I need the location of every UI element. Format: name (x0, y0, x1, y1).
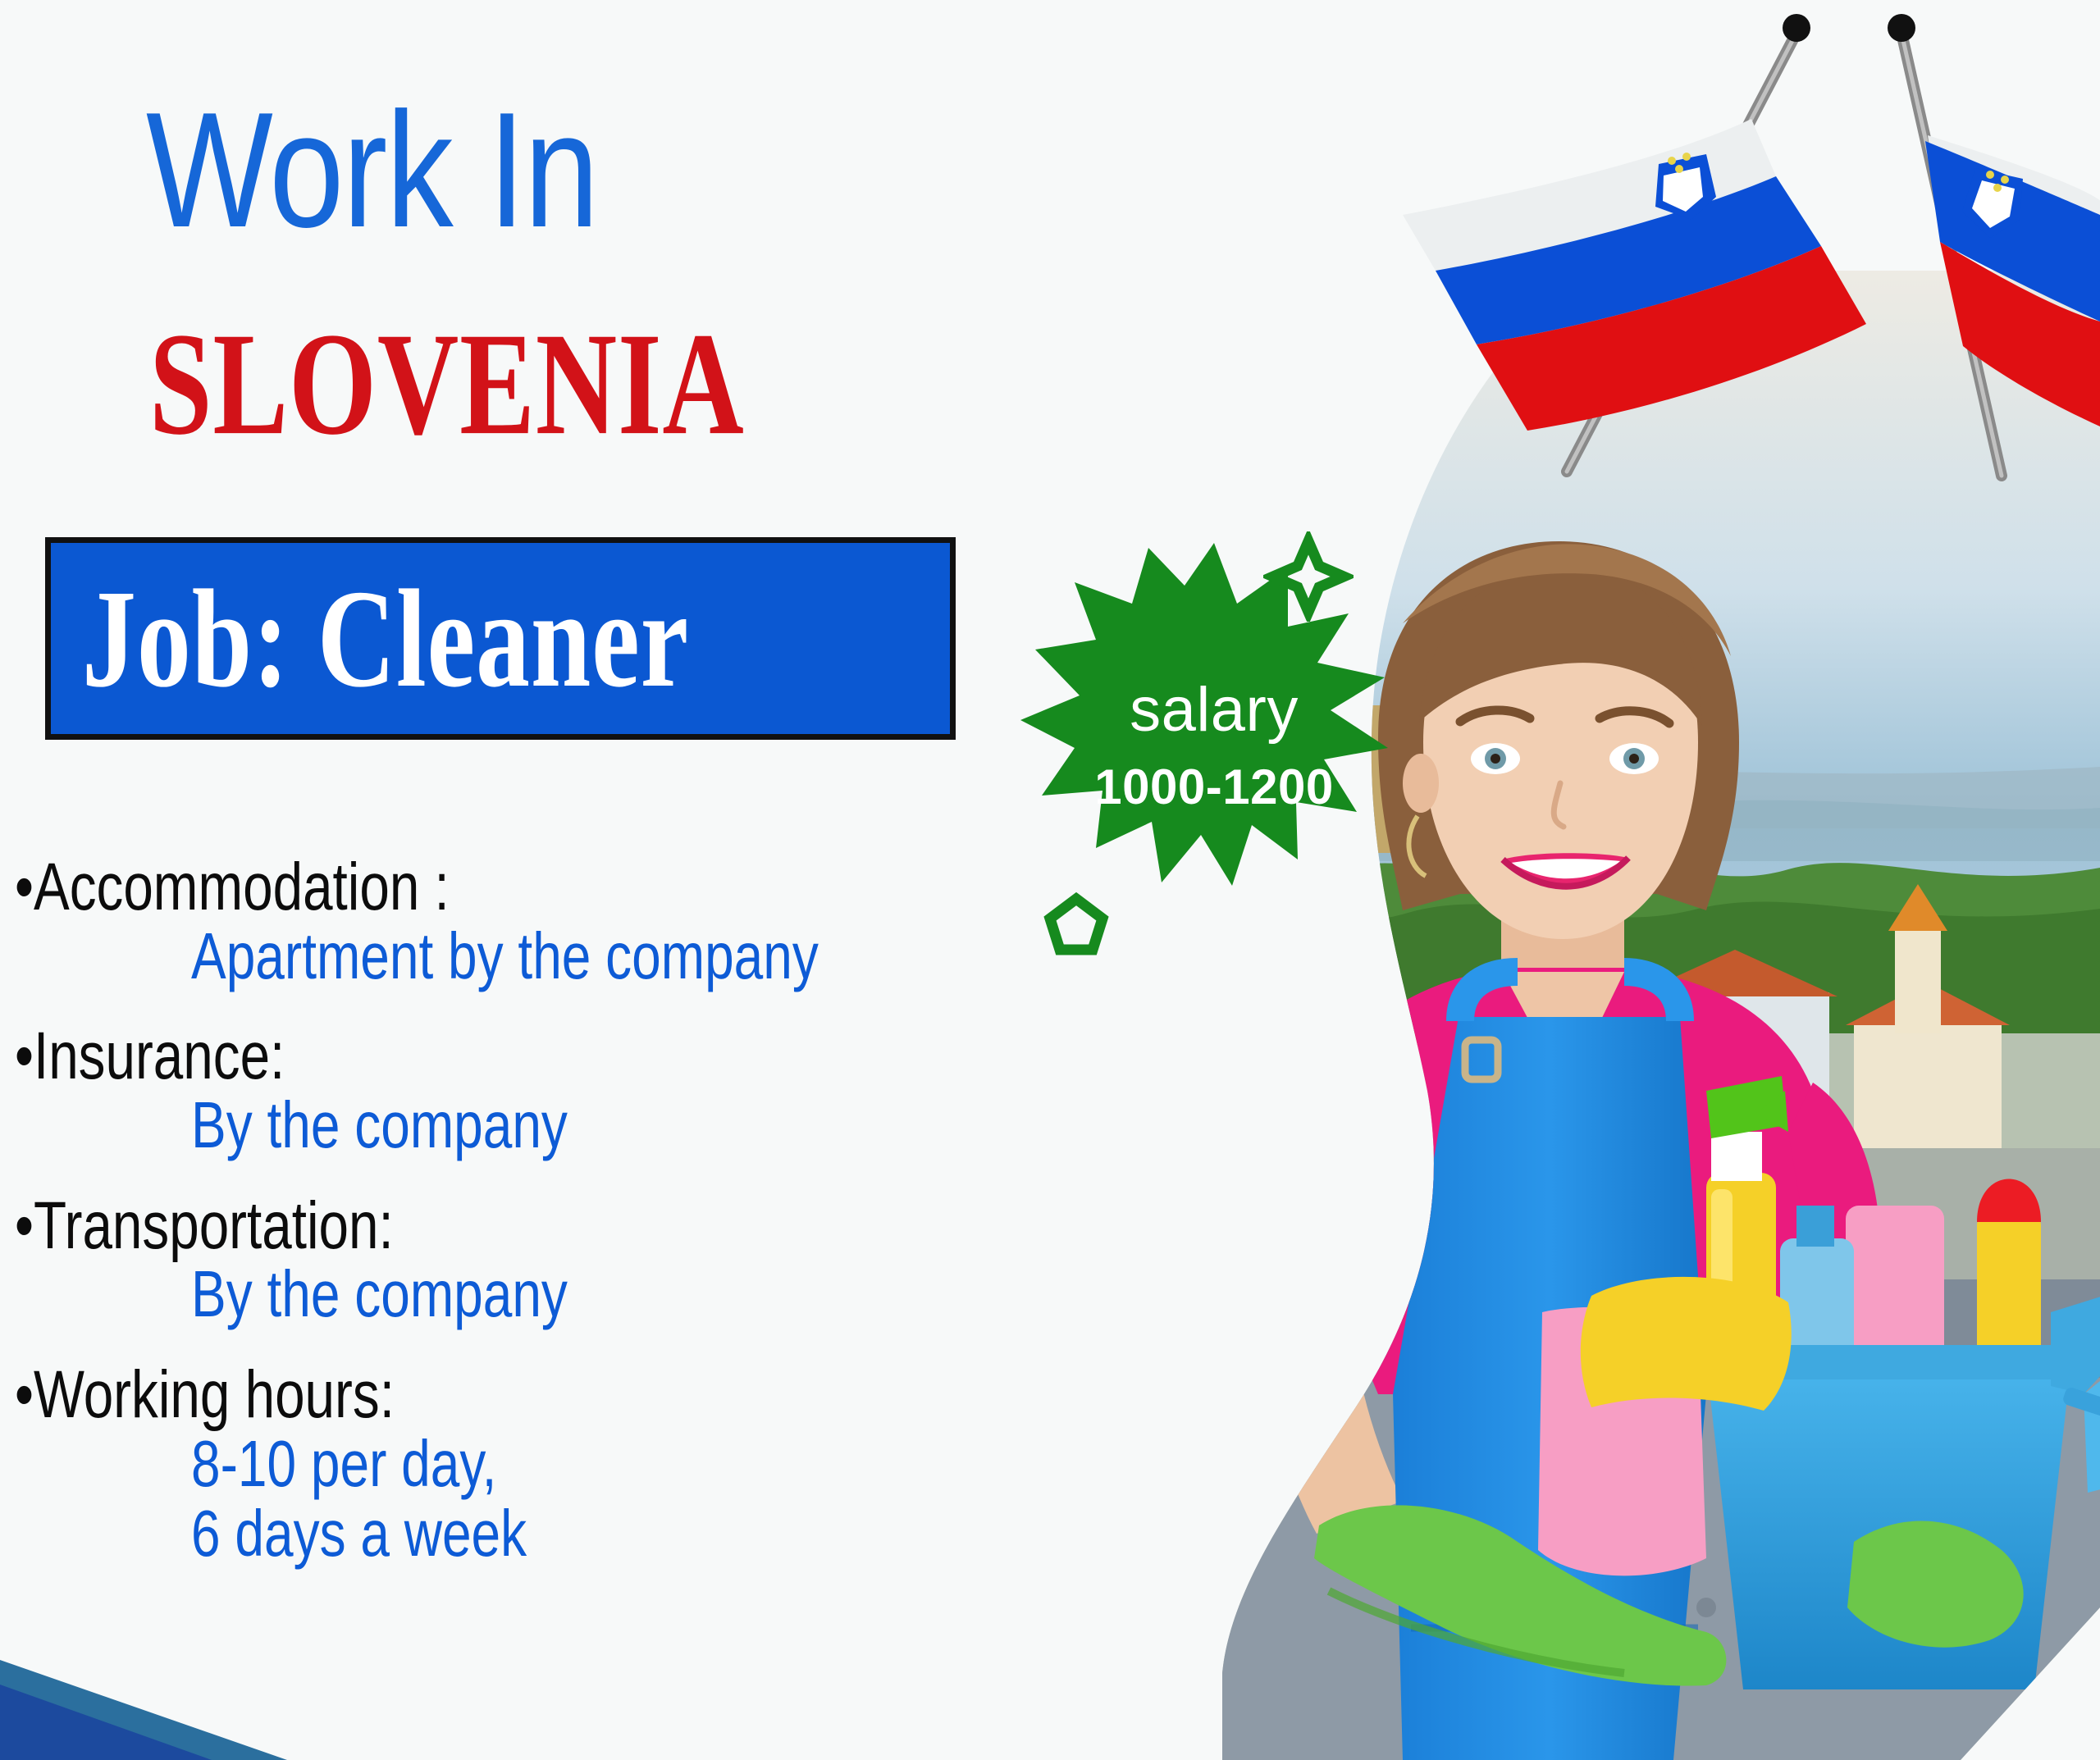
flag-right (1888, 14, 2100, 476)
poster-canvas: salary 1000-1200 Work In SLOVENIA Job: C… (0, 0, 2100, 1760)
page-title-line1: Work In (146, 89, 598, 253)
benefit-value: By the company (191, 1260, 969, 1329)
job-title-banner: Job: Cleaner (45, 537, 956, 740)
list-item: •Working hours: 8-10 per day, 6 days a w… (15, 1361, 1163, 1568)
salary-badge-label: salary (1017, 674, 1411, 745)
benefit-value: 8-10 per day, 6 days a week (191, 1429, 969, 1569)
slovenia-flags-group (943, 0, 2100, 607)
list-item: •Transportation: By the company (15, 1192, 1163, 1329)
benefits-list: •Accommodation : Apartment by the compan… (15, 853, 1163, 1599)
benefit-label: •Working hours: (15, 1361, 934, 1429)
list-item: •Insurance: By the company (15, 1022, 1163, 1160)
salary-badge-value: 1000-1200 (1017, 759, 1411, 815)
corner-decoration (0, 1588, 345, 1760)
page-title-line2: SLOVENIA (149, 310, 745, 457)
list-item: •Accommodation : Apartment by the compan… (15, 853, 1163, 991)
benefit-label: •Transportation: (15, 1192, 934, 1261)
four-point-star-icon (1263, 531, 1354, 622)
job-title-text: Job: Cleaner (82, 558, 689, 718)
benefit-value: By the company (191, 1091, 969, 1160)
flag-left (1403, 14, 1866, 472)
benefit-value: Apartment by the company (191, 922, 969, 992)
benefit-label: •Insurance: (15, 1022, 934, 1091)
benefit-label: •Accommodation : (15, 853, 934, 922)
